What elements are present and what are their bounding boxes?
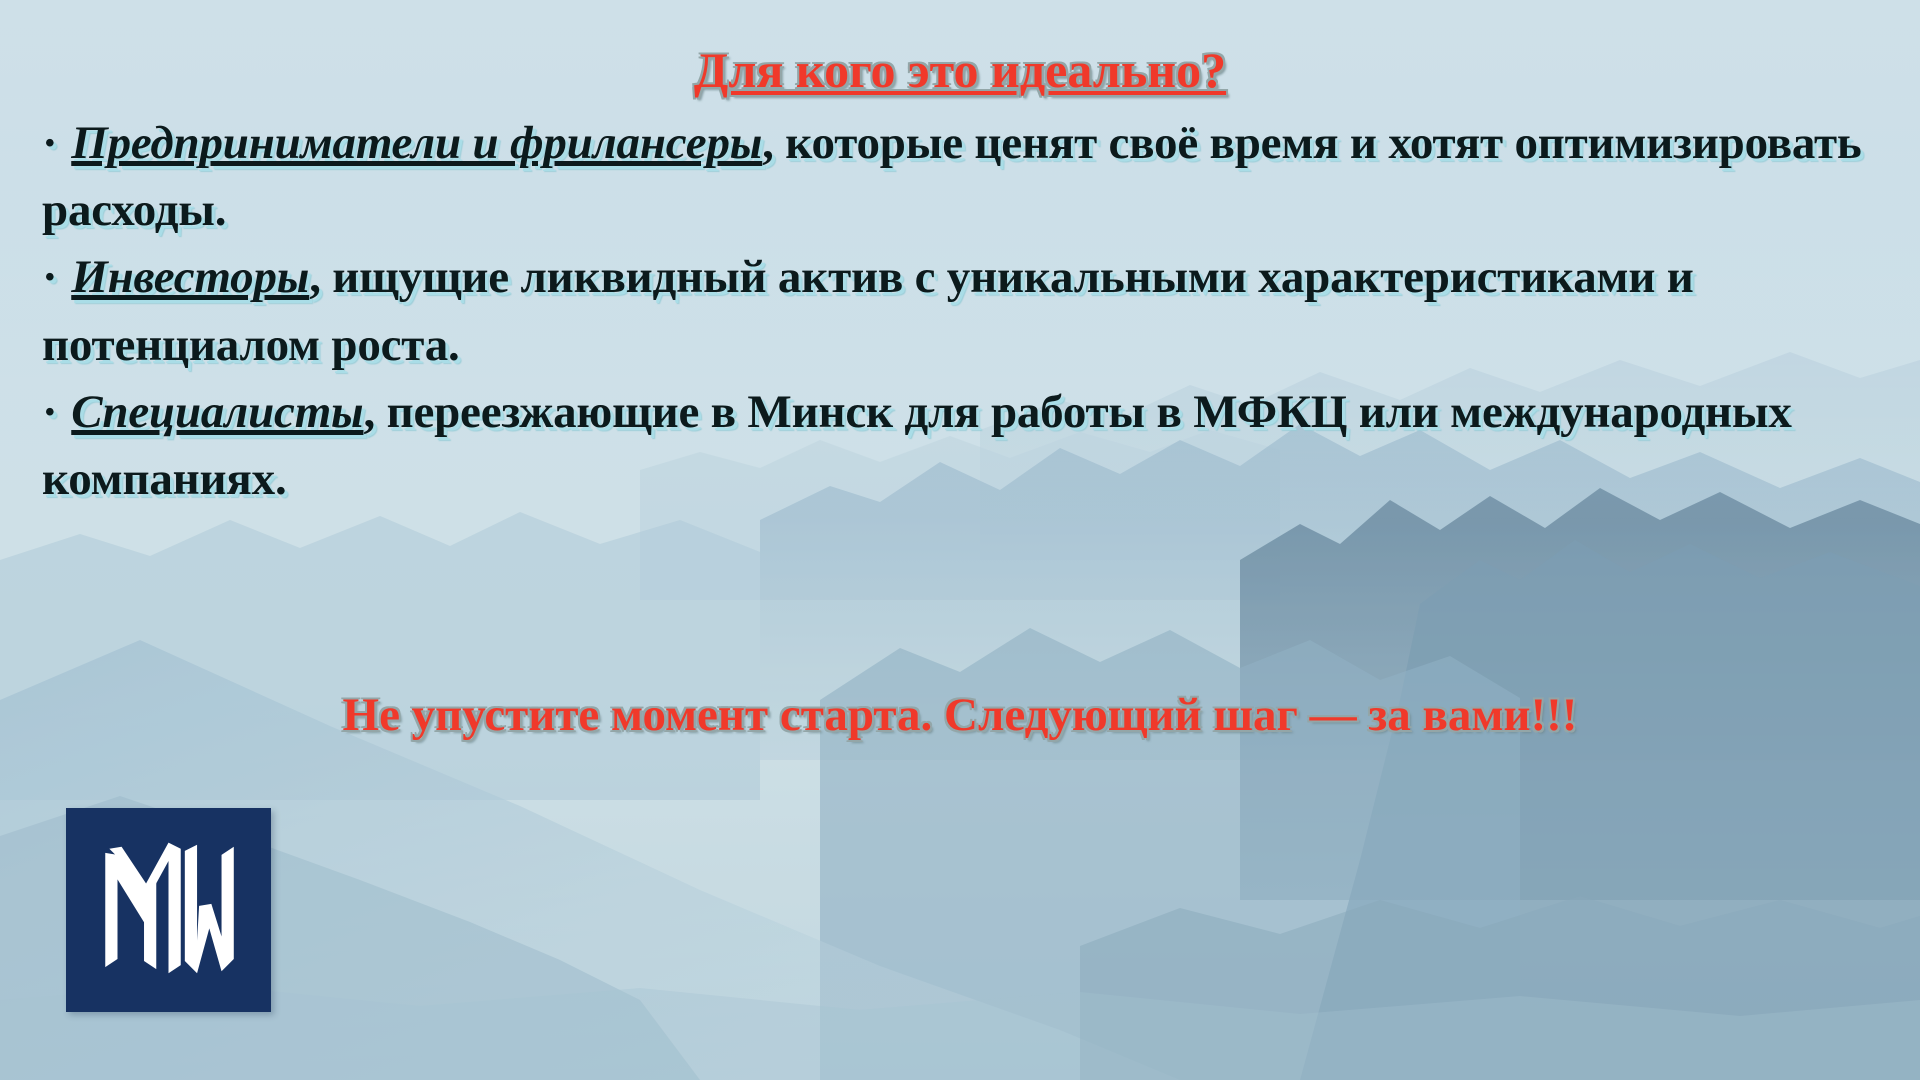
list-item: · Инвесторы, ищущие ликвидный актив с ун…	[42, 244, 1892, 378]
list-item-lead: Предприниматели и фрилансеры	[71, 117, 762, 169]
mw-monogram-icon	[66, 808, 271, 1012]
slide-content: Для кого это идеально? · Предприниматели…	[0, 0, 1920, 1080]
bullet-list: · Предприниматели и фрилансеры, которые …	[42, 110, 1892, 513]
mw-monogram-logo	[66, 808, 271, 1012]
list-item: · Специалисты, переезжающие в Минск для …	[42, 379, 1892, 513]
bullet-marker: ·	[42, 251, 60, 303]
page-title: Для кого это идеально?	[0, 44, 1920, 97]
list-item: · Предприниматели и фрилансеры, которые …	[42, 110, 1892, 244]
bullet-marker: ·	[42, 386, 60, 438]
slide-canvas: Для кого это идеально? · Предприниматели…	[0, 0, 1920, 1080]
list-item-lead: Инвесторы	[71, 251, 309, 303]
call-to-action-text: Не упустите момент старта. Следующий шаг…	[0, 688, 1920, 742]
list-item-lead: Специалисты	[71, 386, 363, 438]
bullet-marker: ·	[42, 117, 60, 169]
